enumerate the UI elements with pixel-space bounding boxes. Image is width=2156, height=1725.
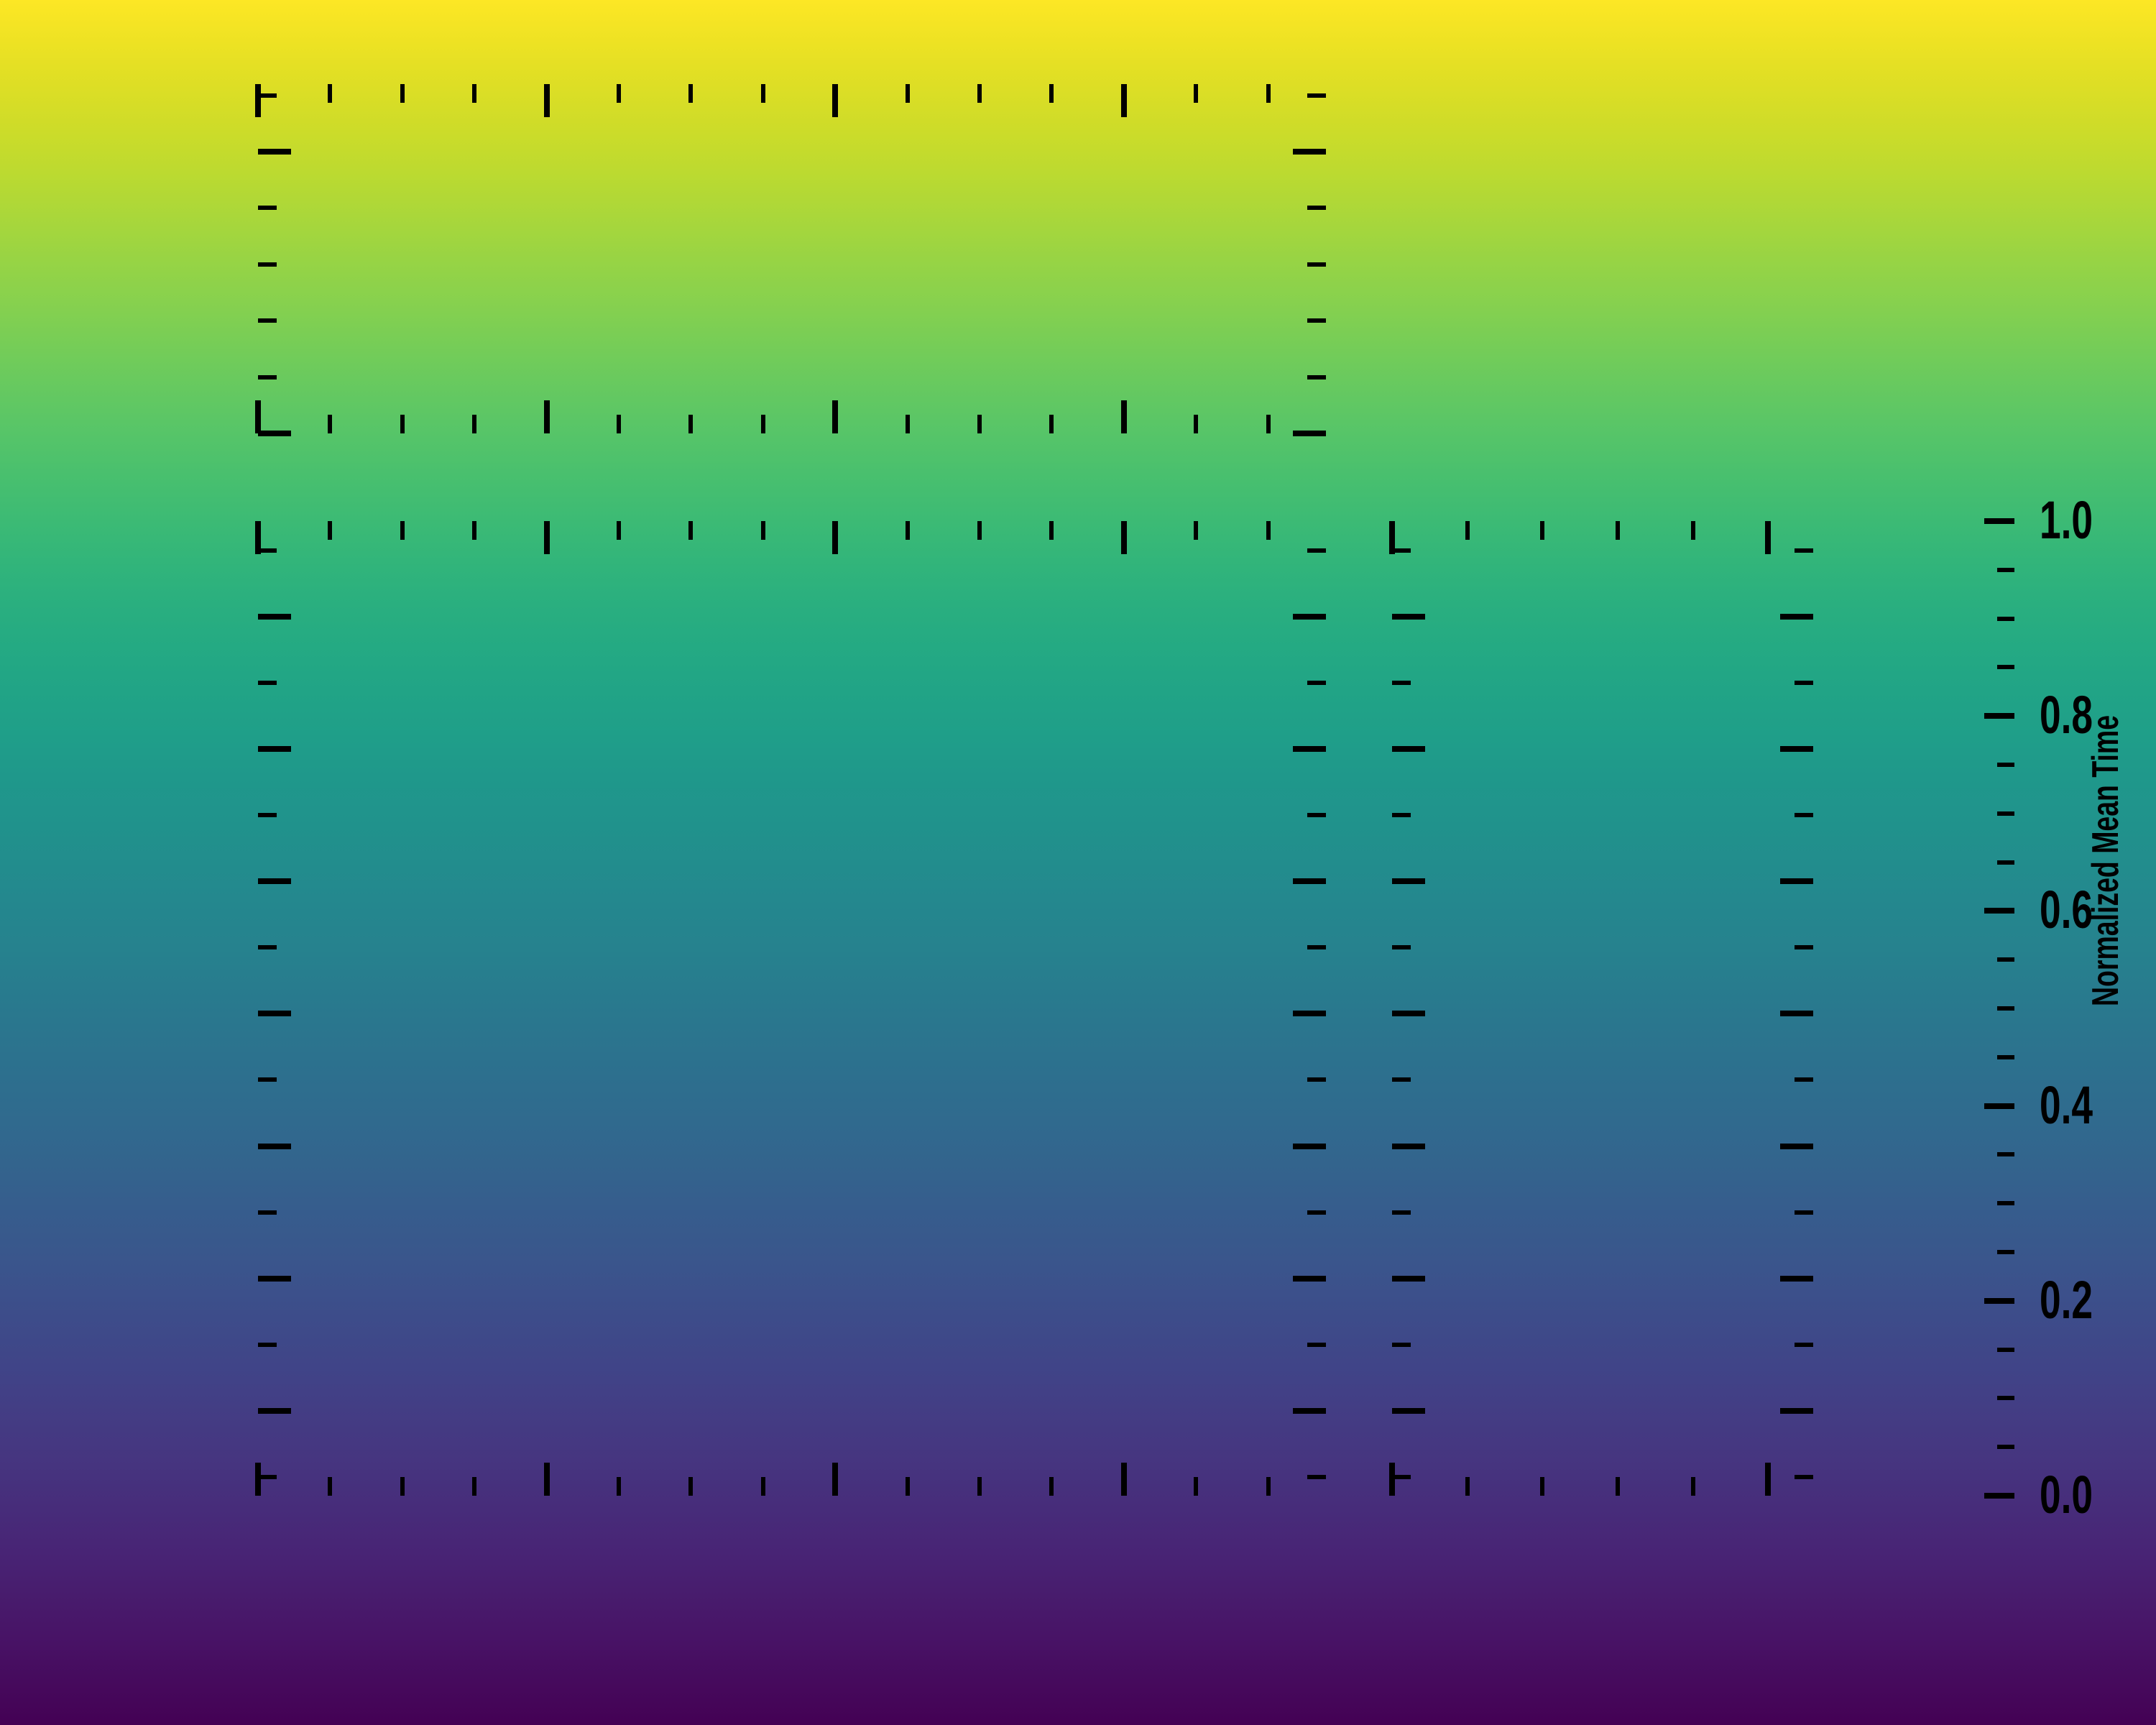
axis-tick [1266, 415, 1271, 433]
axis-tick [688, 415, 693, 433]
axis-tick [1392, 1276, 1425, 1282]
axis-tick [1765, 1463, 1771, 1496]
axis-tick [400, 521, 405, 540]
axis-tick [1780, 614, 1813, 620]
axis-tick [255, 84, 261, 117]
axis-tick [1780, 1011, 1813, 1016]
axis-tick [832, 84, 838, 117]
axis-tick [1780, 1144, 1813, 1149]
axis-tick [761, 521, 765, 540]
colorbar-tick-0-4: 0.4 [2040, 1075, 2093, 1136]
axis-tick [472, 521, 476, 540]
axis-tick [1997, 665, 2014, 669]
axis-tick [1540, 1477, 1544, 1496]
axis-tick [258, 262, 277, 267]
axis-tick [1780, 878, 1813, 884]
axis-tick [1691, 521, 1695, 540]
axis-tick [1194, 84, 1198, 103]
axis-tick [1307, 681, 1326, 685]
axis-tick [472, 84, 476, 103]
axis-tick [688, 1477, 693, 1496]
axis-tick [832, 521, 838, 554]
axis-tick [258, 1475, 277, 1479]
axis-tick [1293, 746, 1326, 752]
colorbar-tick-0-0: 0.0 [2040, 1464, 2093, 1525]
colorbar-tick-1-0: 1.0 [2040, 489, 2093, 551]
axis-tick [258, 1011, 291, 1016]
axis-tick [1307, 262, 1326, 267]
axis-tick [258, 1210, 277, 1215]
axis-tick [1997, 1348, 2014, 1352]
axis-tick [1049, 415, 1054, 433]
axis-tick [617, 84, 621, 103]
axis-tick [1795, 1077, 1813, 1082]
axis-tick [1293, 878, 1326, 884]
axis-tick [328, 1477, 332, 1496]
axis-tick [1997, 1152, 2014, 1156]
axis-tick [1691, 1477, 1695, 1496]
axis-tick [1392, 1343, 1411, 1347]
axis-tick [1984, 1298, 2014, 1304]
axis-tick [258, 878, 291, 884]
axis-tick [1049, 1477, 1054, 1496]
axis-tick [258, 149, 291, 155]
axis-tick [1795, 1210, 1813, 1215]
axis-tick [1392, 878, 1425, 884]
axis-tick [1293, 1408, 1326, 1414]
axis-tick [1984, 908, 2014, 914]
axis-tick [1307, 813, 1326, 817]
axis-tick [1307, 1077, 1326, 1082]
axis-tick [1795, 1343, 1813, 1347]
axis-tick [544, 400, 550, 433]
axis-tick [544, 521, 550, 554]
axis-tick [1392, 1011, 1425, 1016]
axis-tick [472, 1477, 476, 1496]
axis-tick [1997, 1055, 2014, 1059]
axis-tick [1780, 1408, 1813, 1414]
axis-tick [328, 521, 332, 540]
axis-tick [1997, 1250, 2014, 1254]
axis-tick [1307, 945, 1326, 949]
axis-tick [1293, 1144, 1326, 1149]
axis-tick [472, 415, 476, 433]
axis-tick [1465, 1477, 1470, 1496]
axis-tick [1392, 681, 1411, 685]
axis-tick [1121, 521, 1127, 554]
axis-tick [258, 431, 291, 436]
axis-tick [258, 614, 291, 620]
axis-tick [832, 400, 838, 433]
axis-tick [1266, 84, 1271, 103]
axis-tick [1997, 811, 2014, 816]
axis-tick [1780, 1276, 1813, 1282]
axis-tick [258, 1276, 291, 1282]
axis-tick [1997, 1396, 2014, 1400]
axis-tick [1795, 945, 1813, 949]
axis-tick [1997, 617, 2014, 621]
axis-tick [1616, 521, 1620, 540]
axis-tick [1795, 813, 1813, 817]
axis-tick [688, 84, 693, 103]
axis-tick [1984, 1493, 2014, 1499]
axis-tick [258, 318, 277, 323]
axis-tick [906, 415, 910, 433]
axis-tick [1266, 1477, 1271, 1496]
axis-tick [255, 400, 261, 433]
figure-root: PepDF Time window: 200 ns 500 0 # Counts… [0, 0, 2156, 1725]
axis-tick [1465, 521, 1470, 540]
axis-tick [258, 1144, 291, 1149]
axis-tick [1795, 681, 1813, 685]
axis-tick [977, 1477, 982, 1496]
axis-tick [761, 84, 765, 103]
axis-tick [1997, 1006, 2014, 1011]
axis-tick [906, 521, 910, 540]
axis-tick [1307, 93, 1326, 98]
axis-tick [1997, 568, 2014, 572]
axis-tick [328, 84, 332, 103]
axis-tick [1997, 1201, 2014, 1205]
axis-tick [1293, 431, 1326, 436]
axis-tick [1307, 1343, 1326, 1347]
axis-tick [1293, 1276, 1326, 1282]
axis-tick [258, 548, 277, 553]
axis-tick [1795, 1475, 1813, 1479]
axis-tick [258, 1343, 277, 1347]
axis-tick [258, 681, 277, 685]
axis-tick [258, 93, 277, 98]
axis-tick [1266, 521, 1271, 540]
axis-tick [1392, 548, 1411, 553]
axis-tick [1307, 1210, 1326, 1215]
axis-tick [1765, 521, 1771, 554]
axis-tick [1392, 1077, 1411, 1082]
axis-tick [906, 84, 910, 103]
axis-tick [258, 206, 277, 210]
axis-tick [1997, 1445, 2014, 1449]
axis-tick [1293, 614, 1326, 620]
axis-tick [1616, 1477, 1620, 1496]
axis-tick [544, 1463, 550, 1496]
axis-tick [1795, 548, 1813, 553]
axis-tick [617, 1477, 621, 1496]
axis-tick [1049, 84, 1054, 103]
axis-tick [400, 1477, 405, 1496]
axis-tick [1997, 860, 2014, 865]
axis-tick [1307, 318, 1326, 323]
axis-tick [761, 1477, 765, 1496]
axis-tick [1392, 614, 1425, 620]
axis-tick [400, 415, 405, 433]
axis-tick [258, 746, 291, 752]
axis-tick [544, 84, 550, 117]
axis-tick [617, 521, 621, 540]
axis-tick [1293, 149, 1326, 155]
axis-tick [977, 415, 982, 433]
axis-tick [258, 1408, 291, 1414]
axis-tick [1392, 1408, 1425, 1414]
colorbar [0, 0, 115, 985]
axis-tick [1984, 1103, 2014, 1109]
axis-tick [1194, 415, 1198, 433]
colorbar-gradient [0, 0, 2156, 1725]
axis-tick [1307, 548, 1326, 553]
axis-tick [1392, 1475, 1411, 1479]
axis-tick [1121, 1463, 1127, 1496]
axis-tick [1997, 957, 2014, 962]
axis-tick [1984, 518, 2014, 524]
axis-tick [1392, 746, 1425, 752]
axis-tick [977, 84, 982, 103]
axis-tick [1780, 746, 1813, 752]
axis-tick [906, 1477, 910, 1496]
axis-tick [761, 415, 765, 433]
axis-tick [1307, 1475, 1326, 1479]
axis-tick [1392, 1210, 1411, 1215]
axis-tick [258, 375, 277, 379]
axis-tick [1293, 1011, 1326, 1016]
axis-tick [1392, 1144, 1425, 1149]
axis-tick [1984, 713, 2014, 719]
axis-tick [1049, 521, 1054, 540]
axis-tick [977, 521, 982, 540]
axis-tick [258, 945, 277, 949]
axis-tick [258, 813, 277, 817]
axis-tick [328, 415, 332, 433]
axis-tick [1194, 1477, 1198, 1496]
axis-tick [258, 1077, 277, 1082]
axis-tick [617, 415, 621, 433]
colorbar-tick-0-2: 0.2 [2040, 1269, 2093, 1330]
axis-tick [1307, 375, 1326, 379]
axis-tick [1307, 206, 1326, 210]
axis-tick [688, 521, 693, 540]
axis-tick [1121, 84, 1127, 117]
axis-tick [1392, 813, 1411, 817]
axis-tick [1997, 763, 2014, 767]
axis-tick [1194, 521, 1198, 540]
axis-tick [1392, 945, 1411, 949]
axis-tick [832, 1463, 838, 1496]
axis-tick [1121, 400, 1127, 433]
axis-tick [400, 84, 405, 103]
axis-tick [1540, 521, 1544, 540]
colorbar-label: Normalized Mean Time [2084, 715, 2127, 1006]
